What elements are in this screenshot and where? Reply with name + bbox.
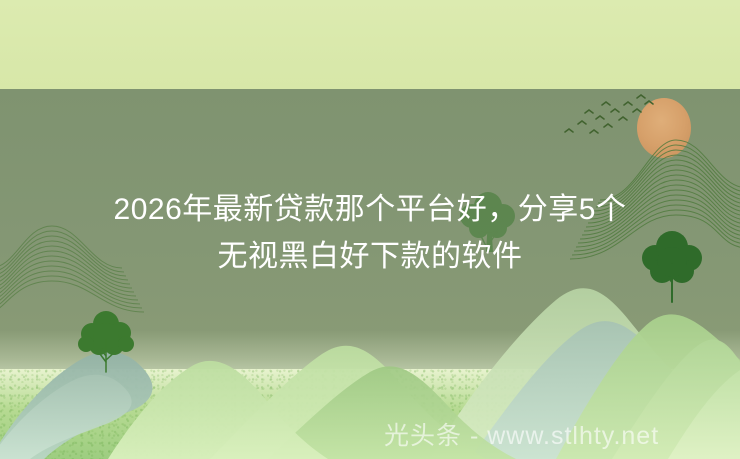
site-watermark: 光头条 - www.stlhty.net [384, 421, 659, 451]
title-line-2: 无视黑白好下款的软件 [0, 233, 740, 280]
poster-canvas: 2026年最新贷款那个平台好，分享5个 无视黑白好下款的软件 光头条 - www… [0, 0, 740, 459]
title-line-1: 2026年最新贷款那个平台好，分享5个 [0, 186, 740, 233]
horizon-haze [0, 330, 740, 372]
sky-band [0, 0, 740, 89]
poster-title: 2026年最新贷款那个平台好，分享5个 无视黑白好下款的软件 [0, 186, 740, 280]
